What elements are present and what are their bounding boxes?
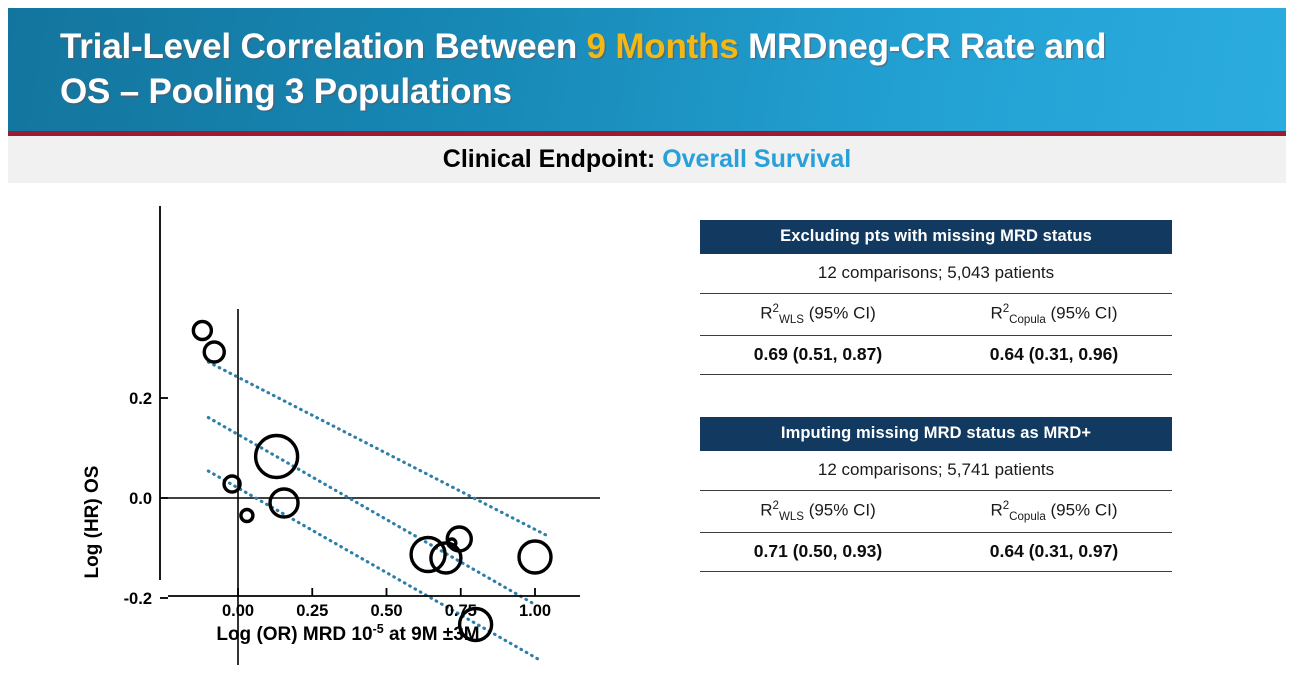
- title-banner: Trial-Level Correlation Between 9 Months…: [8, 8, 1286, 131]
- stat-table-subtitle: 12 comparisons; 5,043 patients: [700, 254, 1172, 294]
- x-axis-ticks: 0.000.250.500.751.00: [222, 588, 551, 620]
- r2-base: R: [990, 304, 1002, 323]
- stat-table-header: Excluding pts with missing MRD status: [700, 220, 1172, 254]
- r2-subscript: Copula: [1009, 511, 1046, 523]
- value-r2-copula: 0.64 (0.31, 0.96): [936, 336, 1172, 374]
- x-label-prefix: Log (OR) MRD 10: [216, 624, 372, 645]
- x-tick-label: 0.50: [370, 602, 402, 620]
- r2-subscript: WLS: [779, 314, 804, 326]
- x-label-superscript: -5: [373, 622, 384, 636]
- stat-table-imputing: Imputing missing MRD status as MRD+ 12 c…: [700, 417, 1172, 572]
- y-tick-label: 0.2: [129, 390, 152, 408]
- data-bubbles: [193, 322, 551, 641]
- statistics-tables-panel: Excluding pts with missing MRD status 12…: [700, 220, 1180, 614]
- y-tick-label: 0.0: [129, 490, 152, 508]
- y-axis-ticks: 0.20.0-0.2: [124, 390, 168, 608]
- r2-ci-tail: (95% CI): [804, 501, 876, 520]
- r2-ci-tail: (95% CI): [1046, 501, 1118, 520]
- stat-table-values: 0.69 (0.51, 0.87) 0.64 (0.31, 0.96): [700, 336, 1172, 375]
- stat-table-column-headers: R2WLS (95% CI) R2Copula (95% CI): [700, 491, 1172, 533]
- r2-subscript: Copula: [1009, 314, 1046, 326]
- data-bubble[interactable]: [204, 342, 224, 362]
- value-r2-wls: 0.69 (0.51, 0.87): [700, 336, 936, 374]
- subtitle-value: Overall Survival: [662, 145, 851, 173]
- value-r2-copula: 0.64 (0.31, 0.97): [936, 533, 1172, 571]
- slide-canvas: Trial-Level Correlation Between 9 Months…: [0, 0, 1294, 681]
- y-axis-label: Log (HR) OS: [82, 466, 103, 579]
- page-title-highlight: 9 Months: [587, 27, 739, 66]
- x-axis-label: Log (OR) MRD 10-5 at 9M ±3M: [216, 622, 479, 645]
- x-tick-label: 1.00: [519, 602, 551, 620]
- column-header-r2-wls: R2WLS (95% CI): [700, 491, 936, 532]
- r2-ci-tail: (95% CI): [804, 304, 876, 323]
- page-title: Trial-Level Correlation Between 9 Months…: [8, 25, 1158, 113]
- stat-table-subtitle: 12 comparisons; 5,741 patients: [700, 451, 1172, 491]
- subtitle-label: Clinical Endpoint:: [443, 145, 662, 173]
- scatter-chart: Log (HR) OS 0.20.0-0.2 0.000.250.500.751…: [0, 192, 660, 681]
- r2-base: R: [990, 501, 1002, 520]
- r2-base: R: [760, 304, 772, 323]
- r2-ci-tail: (95% CI): [1046, 304, 1118, 323]
- x-tick-label: 0.75: [445, 602, 477, 620]
- data-bubble[interactable]: [519, 541, 551, 573]
- page-title-prefix: Trial-Level Correlation Between: [60, 27, 587, 66]
- data-bubble[interactable]: [193, 322, 211, 340]
- stat-table-header: Imputing missing MRD status as MRD+: [700, 417, 1172, 451]
- stat-table-column-headers: R2WLS (95% CI) R2Copula (95% CI): [700, 294, 1172, 336]
- x-tick-label: 0.25: [296, 602, 328, 620]
- value-r2-wls: 0.71 (0.50, 0.93): [700, 533, 936, 571]
- r2-subscript: WLS: [779, 511, 804, 523]
- trend-line-upper-ci: [208, 362, 547, 536]
- slide-body: Log (HR) OS 0.20.0-0.2 0.000.250.500.751…: [0, 192, 1294, 681]
- x-tick-label: 0.00: [222, 602, 254, 620]
- scatter-chart-panel: Log (HR) OS 0.20.0-0.2 0.000.250.500.751…: [0, 192, 660, 681]
- y-tick-label: -0.2: [124, 590, 152, 608]
- x-label-suffix: at 9M ±3M: [384, 624, 480, 645]
- stat-table-values: 0.71 (0.50, 0.93) 0.64 (0.31, 0.97): [700, 533, 1172, 572]
- stat-table-excluding: Excluding pts with missing MRD status 12…: [700, 220, 1172, 375]
- subtitle: Clinical Endpoint: Overall Survival: [443, 145, 851, 174]
- column-header-r2-wls: R2WLS (95% CI): [700, 294, 936, 335]
- data-bubble[interactable]: [241, 510, 253, 522]
- r2-base: R: [760, 501, 772, 520]
- column-header-r2-copula: R2Copula (95% CI): [936, 491, 1172, 532]
- column-header-r2-copula: R2Copula (95% CI): [936, 294, 1172, 335]
- subtitle-band: Clinical Endpoint: Overall Survival: [8, 136, 1286, 183]
